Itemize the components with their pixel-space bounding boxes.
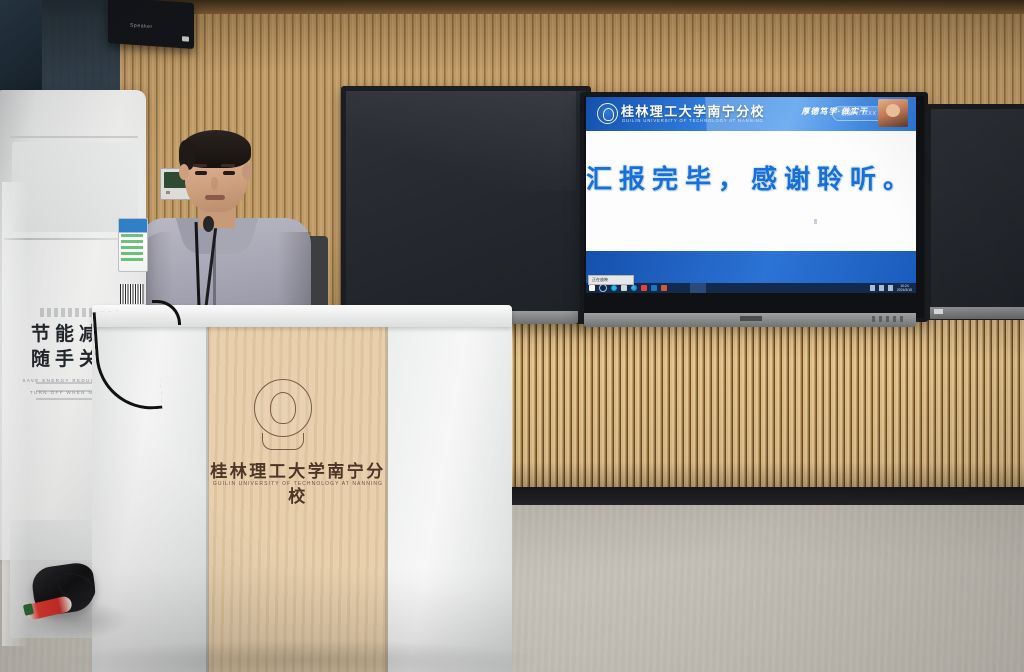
presenter-nose: [211, 177, 218, 190]
mouse-cursor-icon: [814, 219, 817, 224]
main-display-logo: [740, 316, 762, 321]
lecture-hall-photo: Speaker 桂林理工大学南宁分校 GUILIN UNIVERSITY OF …: [0, 0, 1024, 672]
speaker-led-icon: [182, 36, 189, 41]
presenter-eyebrow-right: [221, 164, 235, 167]
university-seal-icon: [597, 103, 618, 124]
presenter-eye-right: [223, 171, 235, 175]
edge-icon[interactable]: [631, 285, 637, 291]
barcode-icon: [120, 284, 144, 304]
taskbar-clock[interactable]: 10:24 2024/3/15: [897, 284, 912, 292]
presenter-mouth: [205, 195, 225, 200]
mail-icon[interactable]: [651, 285, 657, 291]
main-display-buttons[interactable]: [872, 316, 906, 322]
podium-floor-shadow: [70, 640, 540, 672]
presenter-eyebrow-left: [193, 164, 207, 167]
slide-main-text: 汇报完毕，感谢聆听。: [586, 159, 916, 196]
cortana-icon[interactable]: [611, 285, 617, 291]
slide-university-name-en: GUILIN UNIVERSITY OF TECHNOLOGY AT NANNI…: [622, 118, 764, 123]
air-conditioner-highlight: [2, 182, 28, 646]
main-display-screen[interactable]: 桂林理工大学南宁分校 GUILIN UNIVERSITY OF TECHNOLO…: [586, 97, 916, 293]
air-conditioner-seam-top: [10, 136, 138, 138]
taskbar-clock-date: 2024/3/15: [897, 288, 912, 292]
energy-label-bars-icon: [121, 234, 143, 264]
right-display-panel[interactable]: [926, 104, 1024, 320]
right-display-base-bar: [930, 307, 1024, 319]
tray-network-icon[interactable]: [870, 285, 875, 291]
microphone-head-icon[interactable]: [203, 216, 214, 232]
right-display-power-button[interactable]: [934, 309, 943, 314]
left-display-glare: [346, 91, 576, 191]
taskbar-active-window[interactable]: [690, 283, 706, 293]
slide-footer-text: 厚德笃学·做实干: [801, 106, 868, 117]
powerpoint-icon[interactable]: [661, 285, 667, 291]
taskbar-tooltip-text: 正在放映: [592, 277, 608, 283]
start-icon[interactable]: [589, 285, 595, 291]
tray-ime-icon[interactable]: [888, 285, 893, 291]
slide-footer-portrait: [878, 99, 908, 127]
wall-corner-dark: [0, 0, 42, 96]
presenter-ear-left: [179, 164, 189, 180]
presenter-ear-right: [242, 164, 252, 180]
powerpoint-slide[interactable]: 桂林理工大学南宁分校 GUILIN UNIVERSITY OF TECHNOLO…: [586, 97, 916, 283]
taskbar-icon-group[interactable]: [589, 284, 667, 292]
air-conditioner-brand-logo: [40, 308, 98, 317]
system-tray[interactable]: 10:24 2024/3/15: [870, 284, 912, 292]
tray-volume-icon[interactable]: [879, 285, 884, 291]
presenter-eye-left: [195, 171, 207, 175]
taskbar-tooltip: 正在放映: [588, 275, 634, 285]
task-view-icon[interactable]: [621, 285, 627, 291]
wall-speaker: Speaker: [108, 0, 194, 49]
speaker-brand-label: Speaker: [130, 23, 153, 31]
slide-footer-band: [586, 251, 916, 283]
store-icon[interactable]: [641, 285, 647, 291]
search-icon[interactable]: [599, 284, 607, 292]
